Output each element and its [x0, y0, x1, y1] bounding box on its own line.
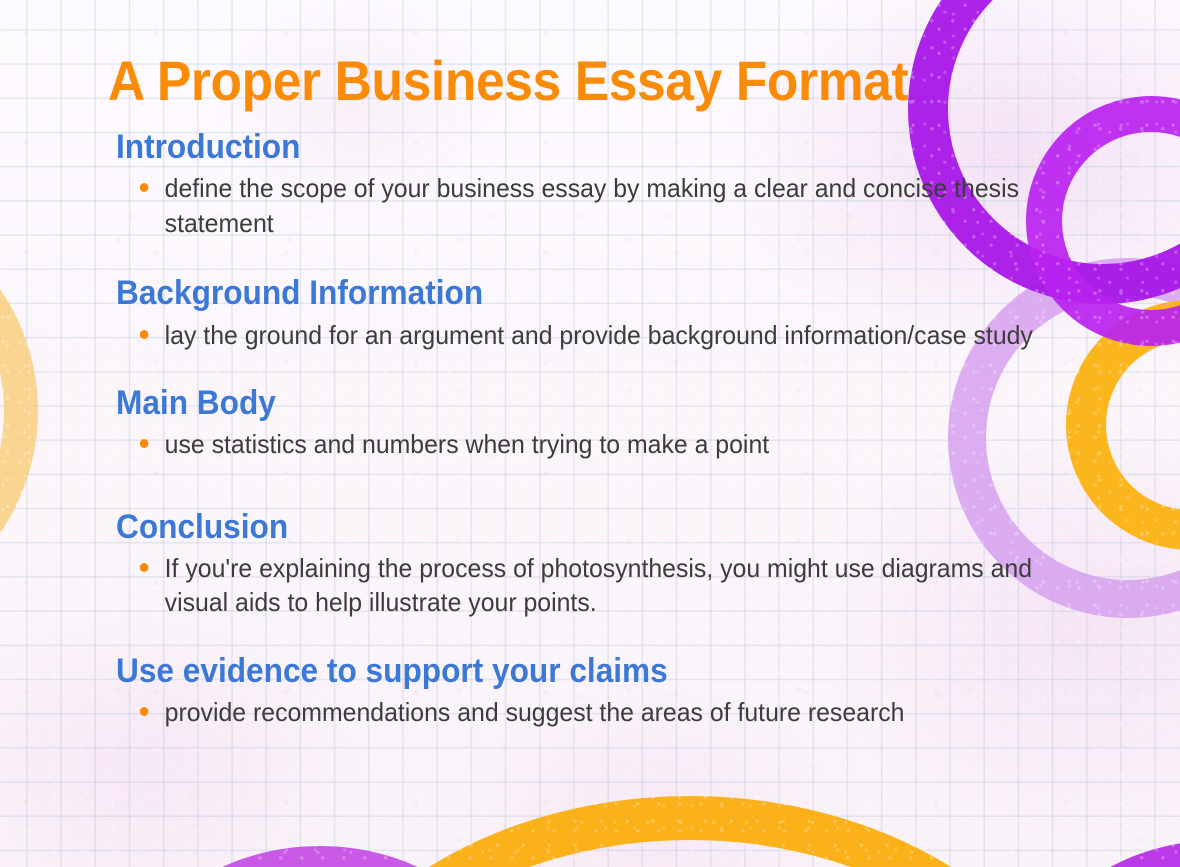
bullet-text: If you're explaining the process of phot… [165, 551, 1053, 620]
bullet-text: lay the ground for an argument and provi… [165, 318, 1053, 352]
section-use-evidence: Use evidence to support your claims prov… [116, 652, 1096, 730]
section-background-information: Background Information lay the ground fo… [116, 274, 1096, 352]
section-heading: Main Body [116, 384, 1027, 423]
bullet-list: If you're explaining the process of phot… [136, 551, 1096, 620]
slide-title: A Proper Business Essay Format [108, 48, 908, 113]
section-heading: Conclusion [116, 508, 1027, 547]
bullet-list: provide recommendations and suggest the … [136, 695, 1096, 729]
section-heading: Introduction [116, 128, 1027, 167]
section-introduction: Introduction define the scope of your bu… [116, 128, 1096, 240]
slide-content: A Proper Business Essay Format Introduct… [0, 0, 1180, 867]
bullet-text: use statistics and numbers when trying t… [165, 427, 1053, 461]
bullet-dot-icon [140, 563, 149, 572]
bullet-item: provide recommendations and suggest the … [136, 695, 1053, 729]
section-heading: Use evidence to support your claims [116, 652, 1027, 691]
bullet-item: use statistics and numbers when trying t… [136, 427, 1053, 461]
bullet-dot-icon [140, 707, 149, 716]
bullet-item: If you're explaining the process of phot… [136, 551, 1053, 620]
bullet-dot-icon [140, 439, 149, 448]
bullet-dot-icon [140, 183, 149, 192]
slide-canvas: A Proper Business Essay Format Introduct… [0, 0, 1180, 867]
bullet-list: use statistics and numbers when trying t… [136, 427, 1096, 461]
bullet-item: define the scope of your business essay … [136, 171, 1053, 240]
bullet-text: define the scope of your business essay … [165, 171, 1053, 240]
bullet-text: provide recommendations and suggest the … [165, 695, 1053, 729]
bullet-item: lay the ground for an argument and provi… [136, 318, 1053, 352]
bullet-dot-icon [140, 330, 149, 339]
section-main-body: Main Body use statistics and numbers whe… [116, 384, 1096, 462]
section-list: Introduction define the scope of your bu… [116, 128, 1096, 731]
section-conclusion: Conclusion If you're explaining the proc… [116, 508, 1096, 620]
bullet-list: lay the ground for an argument and provi… [136, 318, 1096, 352]
bullet-list: define the scope of your business essay … [136, 171, 1096, 240]
section-heading: Background Information [116, 274, 1027, 313]
